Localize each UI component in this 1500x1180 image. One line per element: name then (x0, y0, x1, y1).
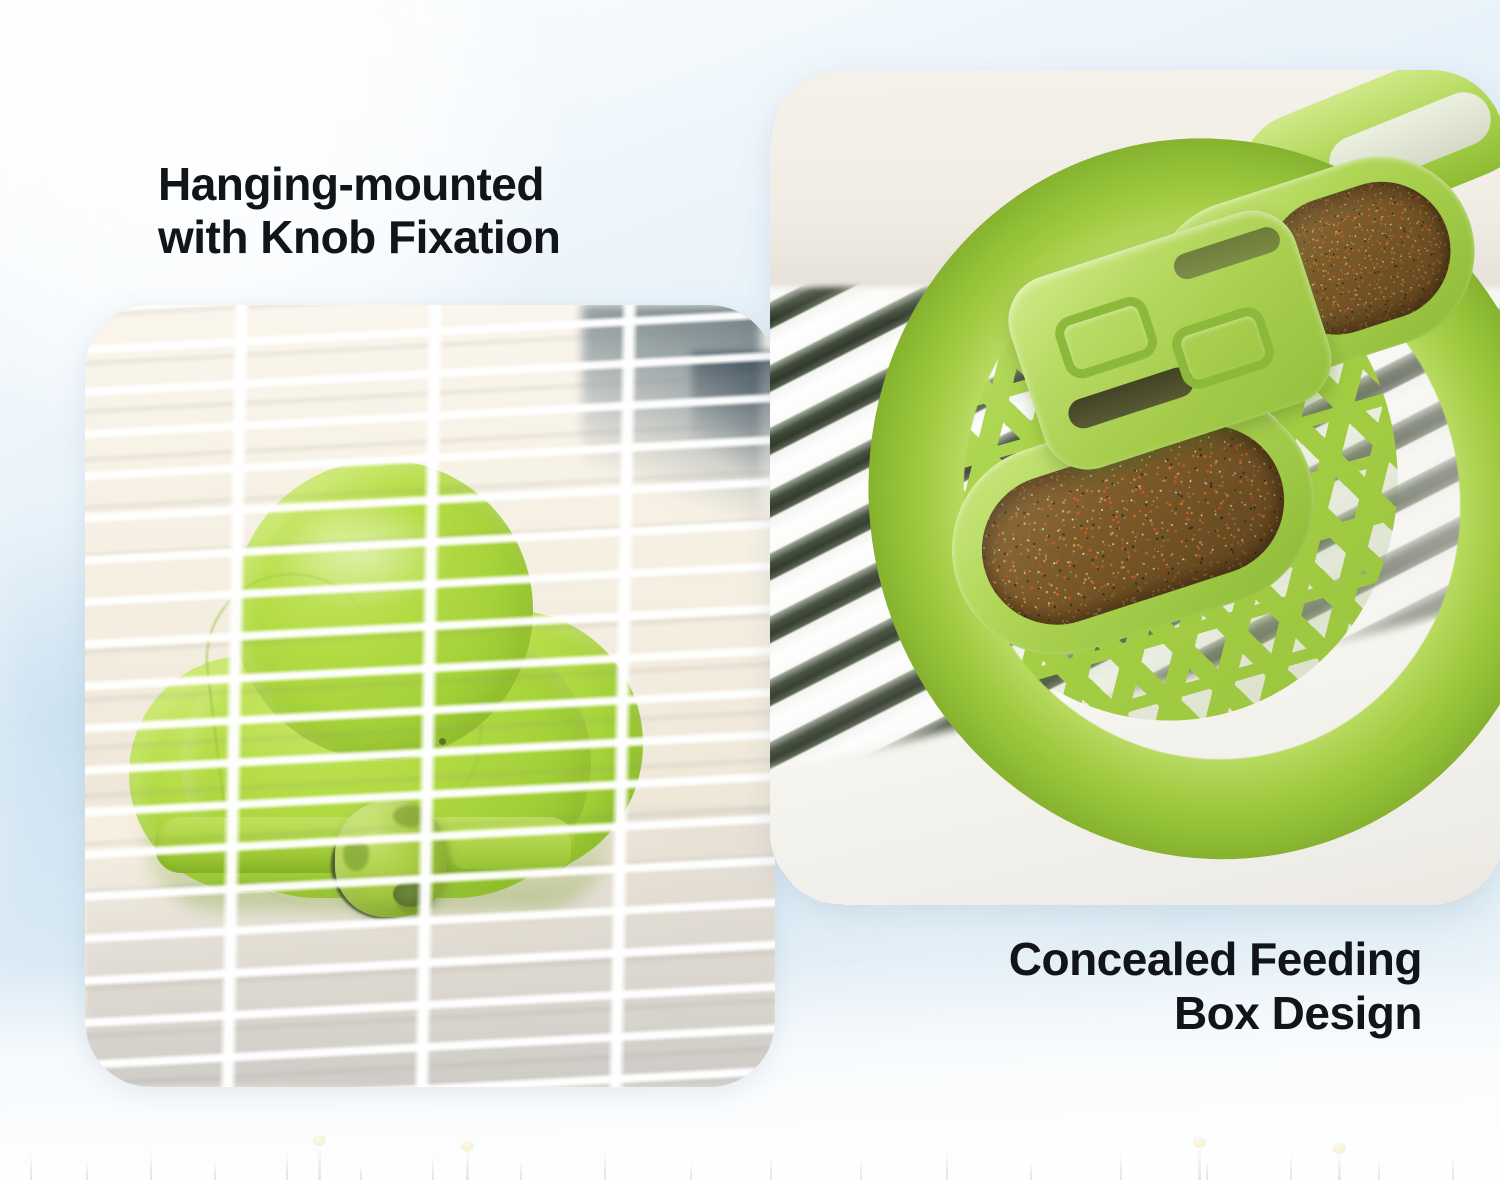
caption-hanging-mounted: Hanging-mounted with Knob Fixation (158, 158, 560, 265)
meadow-flower (318, 1144, 321, 1180)
meadow-flower (1338, 1152, 1341, 1180)
photo-panel-concealed-feeding-box (770, 70, 1500, 905)
meadow-flower (466, 1150, 469, 1180)
caption-right-line-2: Box Design (1009, 987, 1422, 1040)
meadow-flower (1198, 1146, 1201, 1180)
caption-right-line-1: Concealed Feeding (1009, 933, 1422, 986)
caption-concealed-feeding: Concealed Feeding Box Design (1009, 933, 1422, 1040)
cover-finger-grip (1051, 292, 1162, 383)
caption-left-line-2: with Knob Fixation (158, 211, 560, 264)
cage-horizontal-wires (85, 305, 775, 1087)
background-meadow (0, 1110, 1500, 1180)
cover-slot-secondary (1171, 224, 1284, 283)
infographic-canvas: Hanging-mounted with Knob Fixation Conce… (0, 0, 1500, 1180)
caption-left-line-1: Hanging-mounted (158, 158, 560, 211)
photo-panel-hanging-mount (85, 305, 775, 1087)
cover-finger-grip (1168, 303, 1279, 394)
